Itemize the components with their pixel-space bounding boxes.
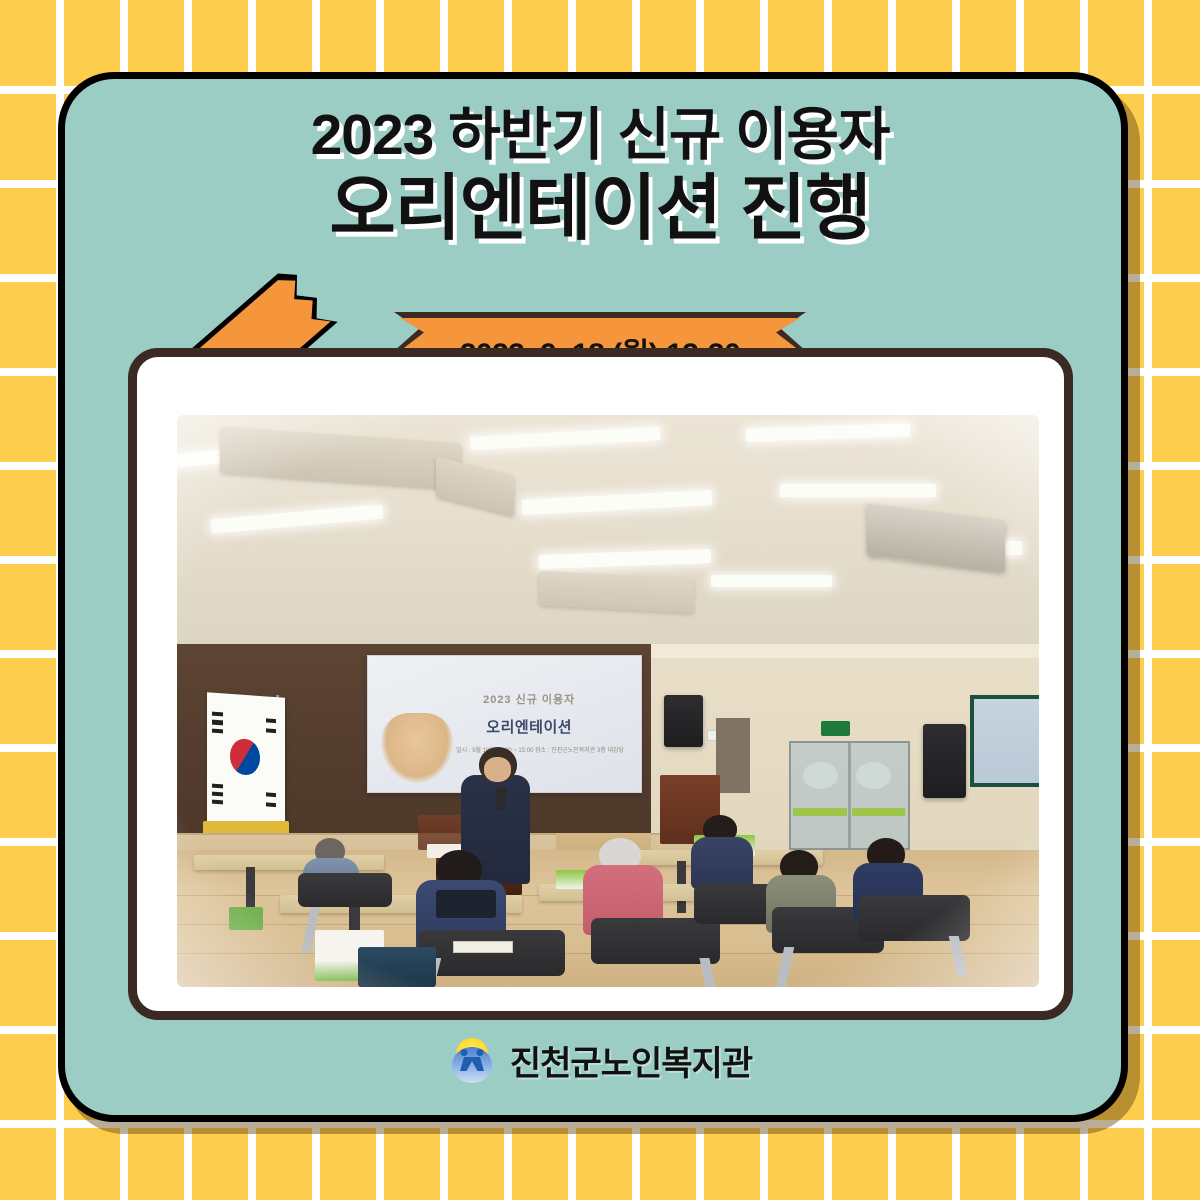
door-window [856, 762, 891, 789]
flag-trigram [213, 792, 223, 797]
wall-trim [651, 644, 1039, 658]
chair-back [858, 895, 970, 941]
flag-trigram [213, 729, 223, 734]
microphone [496, 787, 506, 810]
presenter-face [484, 757, 512, 782]
exit-sign-icon [821, 721, 850, 736]
chair-back [418, 930, 565, 976]
wall-speaker [664, 695, 703, 746]
floor-speaker [923, 724, 966, 798]
glass-double-door [789, 741, 910, 850]
jincheon-senior-welfare-center-logo [448, 1037, 496, 1085]
photo-frame: 2023 신규 이용자 오리엔테이션 일시 : 9월 18일 13:30 ~ 1… [128, 348, 1073, 1020]
handbag [358, 947, 436, 987]
korean-flag [207, 693, 285, 836]
flag-trigram [213, 720, 223, 725]
flag-trigram [266, 719, 276, 724]
screen-line-2: 오리엔테이션 [428, 716, 631, 737]
door-window [803, 762, 838, 789]
ceiling-light [711, 575, 832, 586]
flag-trigram [266, 728, 276, 733]
open-doorway [716, 718, 750, 792]
screen-line-3: 일시 : 9월 18일 13:30 ~ 15:00 장소 : 진천군노인복지관 … [450, 746, 631, 757]
organization-name: 진천군노인복지관 [510, 1036, 752, 1085]
flag-trigram [213, 784, 223, 789]
taegeuk-circle [230, 738, 259, 776]
jacket-on-desk [436, 890, 496, 919]
ceiling-light [780, 484, 935, 498]
green-bag [229, 907, 263, 930]
flag-trigram [213, 800, 223, 805]
flag-trigram [266, 802, 276, 807]
chair-back [298, 873, 393, 907]
right-window [970, 695, 1039, 787]
flag-trigram [266, 793, 276, 798]
two-people-icon [457, 1048, 487, 1072]
event-photo: 2023 신규 이용자 오리엔테이션 일시 : 9월 18일 13:30 ~ 1… [177, 415, 1039, 987]
poster-canvas: 2023 하반기 신규 이용자 오리엔테이션 진행 2023. 9. 18.(월… [0, 0, 1200, 1200]
footer: 진천군노인복지관 [0, 1036, 1200, 1085]
attendee-torso [691, 837, 753, 889]
screen-line-1: 2023 신규 이용자 [428, 691, 631, 707]
door-push-bar [852, 808, 906, 816]
door-divider [848, 743, 850, 848]
chair-label [453, 941, 513, 952]
flag-trigram [213, 712, 223, 717]
door-push-bar [793, 808, 847, 816]
